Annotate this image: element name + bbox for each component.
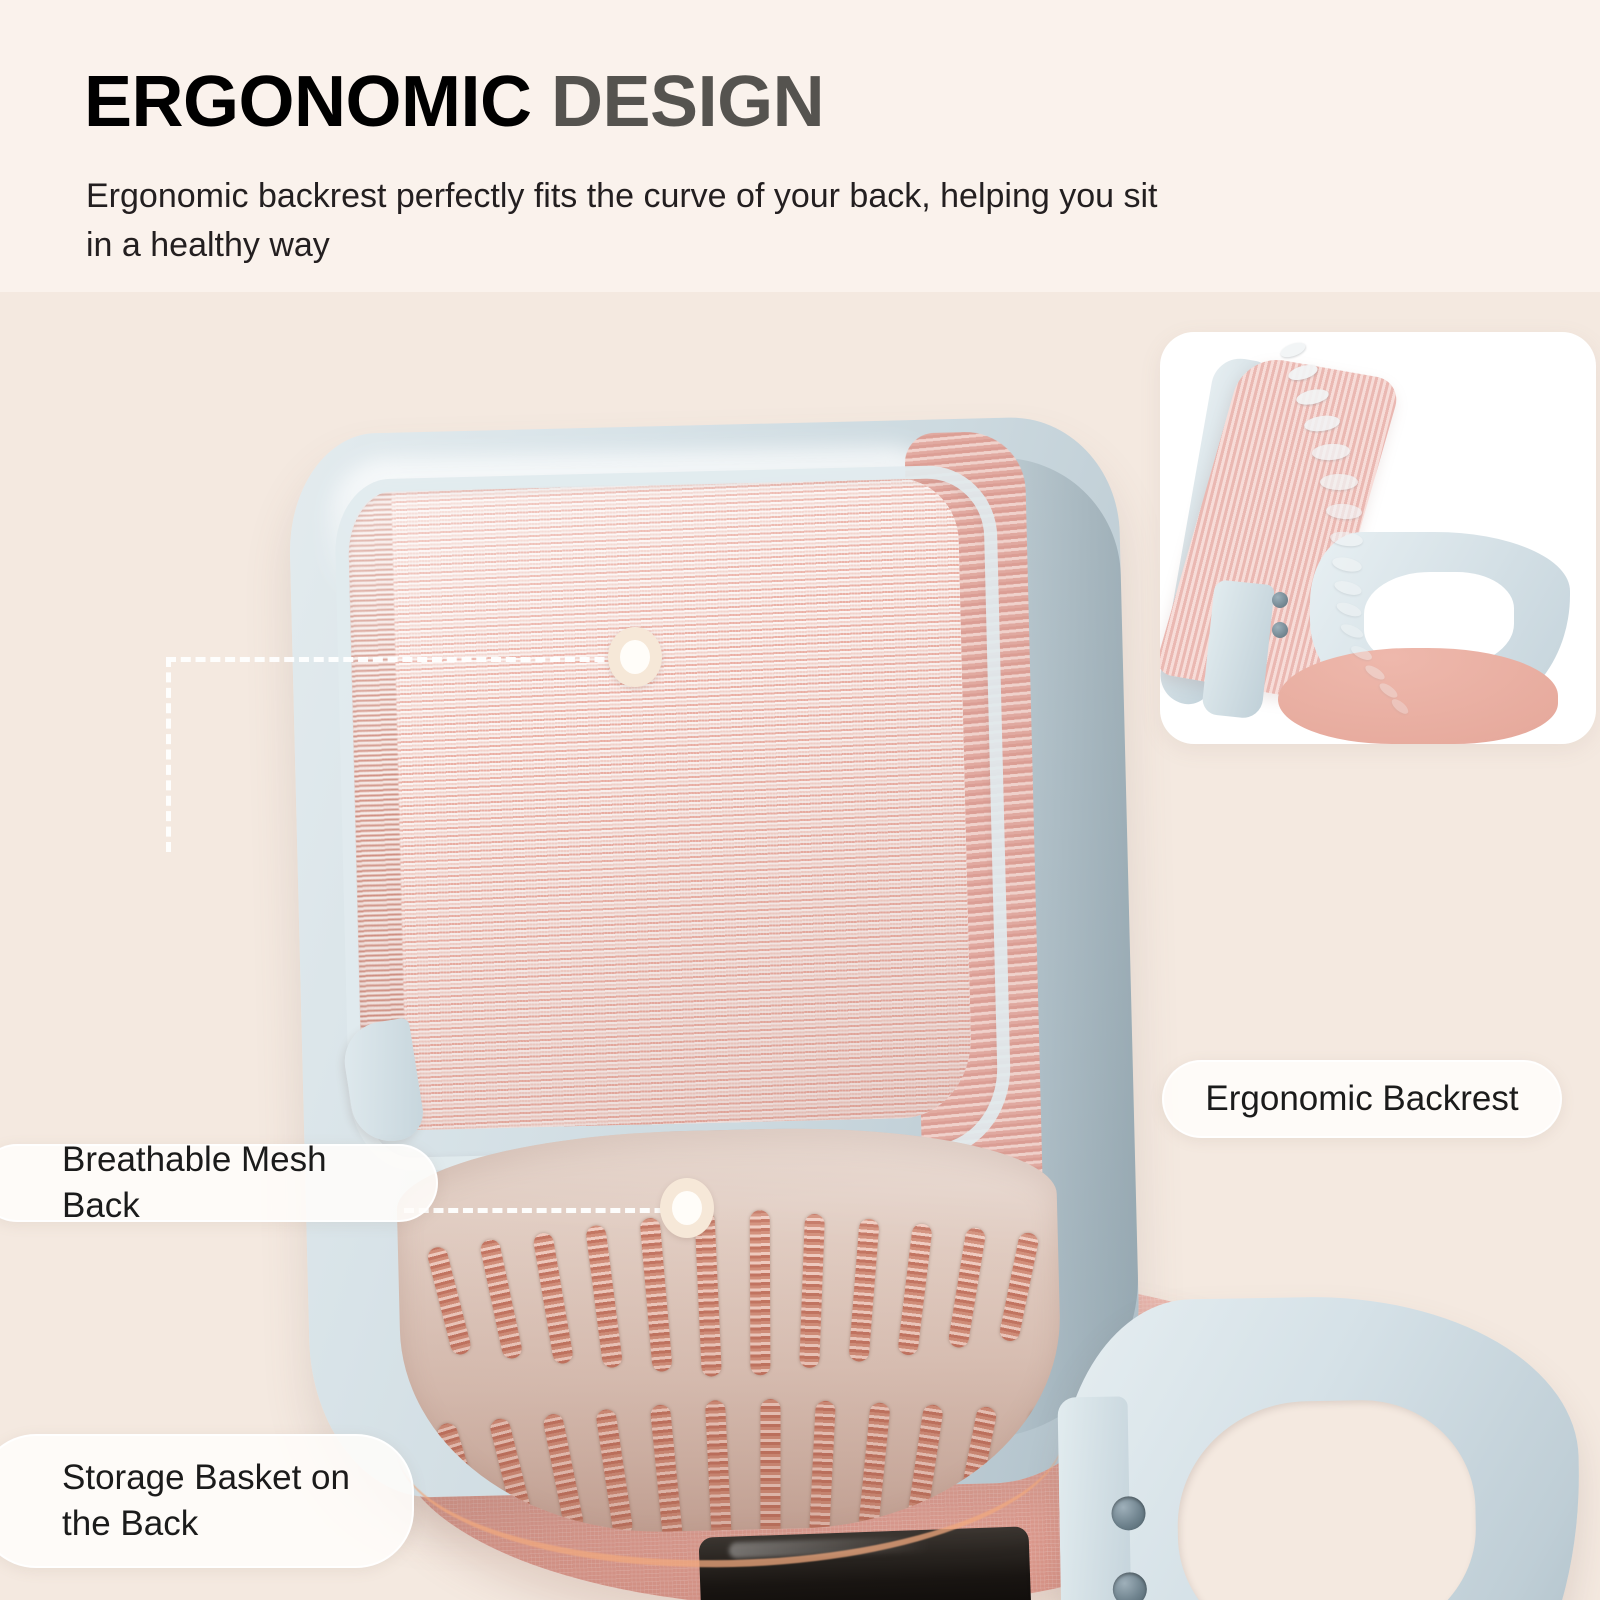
- spine-vertebra: [1377, 681, 1399, 701]
- spine-vertebra: [1295, 387, 1330, 408]
- spine-vertebra: [1279, 340, 1308, 360]
- spine-vertebra: [1339, 622, 1365, 641]
- callout-dot-basket[interactable]: [660, 1178, 714, 1238]
- title-accent-text: ERGONOMIC: [84, 62, 532, 142]
- spine-vertebra: [1320, 474, 1358, 490]
- spine-vertebra: [1311, 443, 1350, 462]
- page-subtitle: Ergonomic backrest perfectly fits the cu…: [86, 172, 1186, 271]
- callout-dot-mesh[interactable]: [608, 627, 662, 687]
- spine-vertebra: [1287, 362, 1319, 383]
- right-armrest: [1056, 1292, 1584, 1600]
- inset-side-view-card: [1160, 332, 1596, 744]
- spine-vertebra: [1326, 503, 1363, 520]
- label-text: Storage Basket on the Back: [10, 1455, 382, 1547]
- spine-vertebra: [1333, 578, 1363, 597]
- label-text: Ergonomic Backrest: [1205, 1076, 1518, 1122]
- product-photo-stage: Breathable Mesh Back Storage Basket on t…: [0, 292, 1600, 1600]
- label-ergonomic-backrest[interactable]: Ergonomic Backrest: [1162, 1060, 1562, 1138]
- label-breathable-mesh-back[interactable]: Breathable Mesh Back: [0, 1144, 438, 1222]
- mesh-shading: [347, 477, 972, 1132]
- spine-vertebra: [1349, 643, 1374, 663]
- spine-vertebra: [1331, 555, 1363, 574]
- leader-line-mesh-horizontal: [166, 657, 634, 662]
- leader-line-basket-horizontal: [404, 1208, 694, 1213]
- spine-vertebra: [1329, 530, 1364, 548]
- page-title: ERGONOMIC DESIGN: [84, 66, 824, 138]
- title-rest-text: DESIGN: [532, 62, 825, 142]
- infographic-page: ERGONOMIC DESIGN Ergonomic backrest perf…: [0, 0, 1600, 1600]
- header-band: ERGONOMIC DESIGN Ergonomic backrest perf…: [0, 0, 1600, 292]
- breathable-mesh-panel: [347, 477, 972, 1132]
- label-storage-basket[interactable]: Storage Basket on the Back: [0, 1434, 414, 1568]
- label-text: Breathable Mesh Back: [10, 1137, 406, 1229]
- spine-vertebra: [1335, 600, 1363, 619]
- spine-vertebra: [1363, 663, 1386, 682]
- spine-alignment-overlay: [1160, 332, 1596, 744]
- spine-vertebra: [1389, 697, 1410, 717]
- leader-line-mesh-vertical: [166, 657, 171, 852]
- spine-vertebra: [1303, 414, 1341, 434]
